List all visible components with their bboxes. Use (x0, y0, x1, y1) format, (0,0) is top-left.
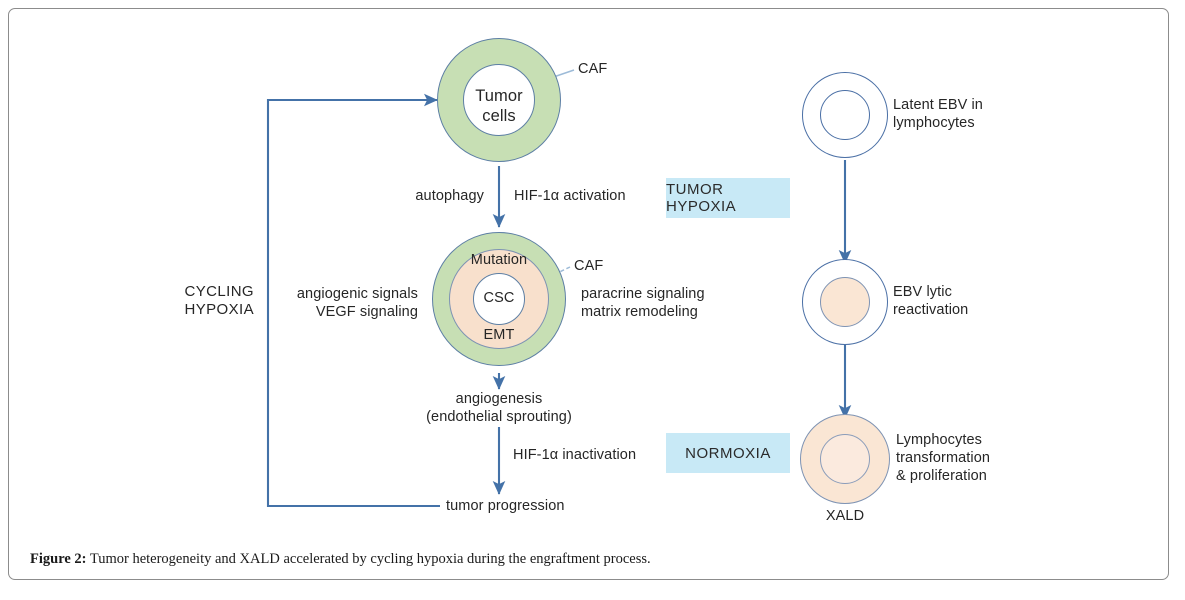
label-lymphocytes-line2: transformation (896, 450, 990, 467)
label-paracrine-signaling-line2: matrix remodeling (581, 304, 698, 321)
label-angiogenesis-line2: (endothelial sprouting) (426, 409, 572, 426)
label-hif1a-activation: HIF-1α activation (514, 188, 626, 205)
label-latent-ebv-line1: Latent EBV in (893, 97, 983, 114)
label-latent-ebv-line2: lymphocytes (893, 115, 975, 132)
cell-tumor-label-line2: cells (482, 106, 516, 126)
cell-lytic-inner (820, 277, 870, 327)
label-lymphocytes-line3: & proliferation (896, 468, 987, 485)
figure-container: Tumor cells CAF autophagy HIF-1α activat… (0, 0, 1185, 600)
highlight-normoxia: NORMOXIA (666, 433, 790, 473)
label-tumor-progression: tumor progression (446, 498, 565, 515)
label-lymphocytes-line1: Lymphocytes (896, 432, 982, 449)
caf-annotation-middle: CAF (574, 258, 603, 275)
cell-tumor-label-line1: Tumor (475, 86, 523, 106)
cell-xald-inner (820, 434, 870, 484)
cell-csc-emt-label: EMT (484, 327, 515, 344)
label-ebv-lytic-line2: reactivation (893, 302, 968, 319)
highlight-tumor-hypoxia-label: TUMOR HYPOXIA (666, 181, 790, 215)
figure-caption: Figure 2: Tumor heterogeneity and XALD a… (30, 551, 1130, 568)
label-angiogenic-signals-line1: angiogenic signals (297, 286, 418, 303)
label-autophagy: autophagy (415, 188, 484, 205)
label-ebv-lytic-line1: EBV lytic (893, 284, 952, 301)
label-cycling-hypoxia-line1: CYCLING (185, 283, 254, 300)
label-paracrine-signaling-line1: paracrine signaling (581, 286, 705, 303)
cell-latent-ebv-inner (820, 90, 870, 140)
figure-caption-label: Figure 2: (30, 551, 87, 567)
caf-annotation-top: CAF (578, 61, 607, 78)
figure-caption-text: Tumor heterogeneity and XALD accelerated… (87, 551, 651, 567)
label-angiogenic-signals-line2: VEGF signaling (316, 304, 418, 321)
cell-csc-core-label: CSC (484, 290, 515, 307)
cell-csc-mutation-label: Mutation (471, 252, 527, 269)
label-angiogenesis-line1: angiogenesis (456, 391, 543, 408)
label-cycling-hypoxia-line2: HYPOXIA (185, 301, 255, 318)
highlight-normoxia-label: NORMOXIA (685, 445, 771, 462)
label-hif1a-inactivation: HIF-1α inactivation (513, 447, 636, 464)
highlight-tumor-hypoxia: TUMOR HYPOXIA (666, 178, 790, 218)
label-xald: XALD (826, 508, 864, 525)
